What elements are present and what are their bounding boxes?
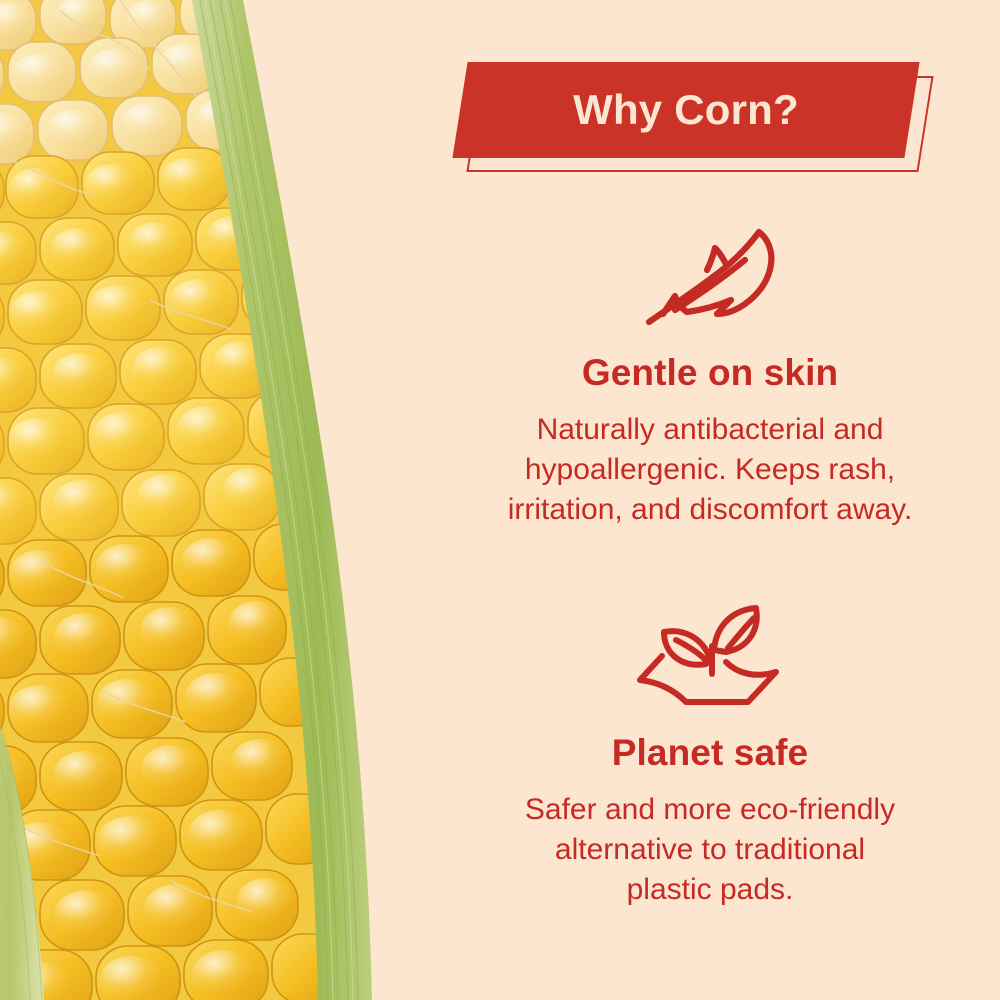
why-corn-infographic: Why Corn? Gentle on skin Naturally antib… bbox=[0, 0, 1000, 1000]
feature-planet-safe: Planet safe Safer and more eco-friendly … bbox=[420, 602, 1000, 910]
feature-heading: Planet safe bbox=[420, 732, 1000, 774]
why-corn-banner: Why Corn? bbox=[452, 62, 952, 182]
feature-body-line: plastic pads. bbox=[448, 870, 972, 910]
feature-body: Safer and more eco-friendly alternative … bbox=[420, 790, 1000, 910]
sprout-icon-wrap bbox=[420, 602, 1000, 714]
feather-icon-wrap bbox=[420, 222, 1000, 334]
sprout-in-hand-icon bbox=[632, 602, 788, 714]
feature-body-line: alternative to traditional bbox=[448, 830, 972, 870]
feature-body-line: hypoallergenic. Keeps rash, bbox=[448, 450, 972, 490]
feature-heading: Gentle on skin bbox=[420, 352, 1000, 394]
feature-gentle-on-skin: Gentle on skin Naturally antibacterial a… bbox=[420, 222, 1000, 530]
feature-body-line: irritation, and discomfort away. bbox=[448, 490, 972, 530]
page-title: Why Corn? bbox=[460, 62, 912, 158]
feature-body-line: Safer and more eco-friendly bbox=[448, 790, 972, 830]
feature-body-line: Naturally antibacterial and bbox=[448, 410, 972, 450]
feather-icon bbox=[635, 222, 785, 334]
feature-body: Naturally antibacterial and hypoallergen… bbox=[420, 410, 1000, 530]
corn-cob-photo bbox=[0, 0, 420, 1000]
